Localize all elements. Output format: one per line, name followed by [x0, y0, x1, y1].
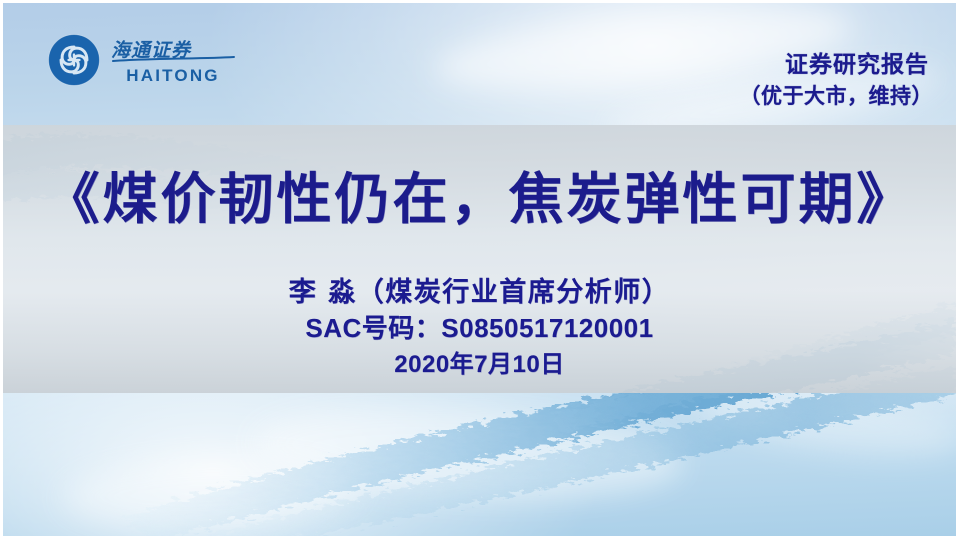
author-sac-number: SAC号码：S0850517120001 — [0, 310, 959, 348]
cloud-wisp — [62, 453, 364, 533]
logo-english-name: HAITONG — [126, 67, 219, 84]
logo-chinese-name-icon: 海通证券 — [110, 36, 236, 66]
haitong-logo: 海通证券 HAITONG — [47, 33, 236, 87]
author-block: 李 淼（煤炭行业首席分析师） SAC号码：S0850517120001 2020… — [0, 276, 959, 383]
presentation-slide: 海通证券 HAITONG 证券研究报告 （优于大市，维持） 《煤价韧性仍在，焦炭… — [0, 0, 959, 539]
report-type-label: 证券研究报告 — [785, 53, 929, 78]
page-title: 《煤价韧性仍在，焦炭弹性可期》 — [0, 168, 959, 230]
author-name: 李 淼（煤炭行业首席分析师） — [0, 276, 959, 310]
haitong-emblem-icon — [47, 33, 101, 87]
logo-wordmark: 海通证券 HAITONG — [110, 36, 236, 84]
report-date: 2020年7月10日 — [0, 347, 959, 383]
rating-label: （优于大市，维持） — [740, 85, 934, 108]
